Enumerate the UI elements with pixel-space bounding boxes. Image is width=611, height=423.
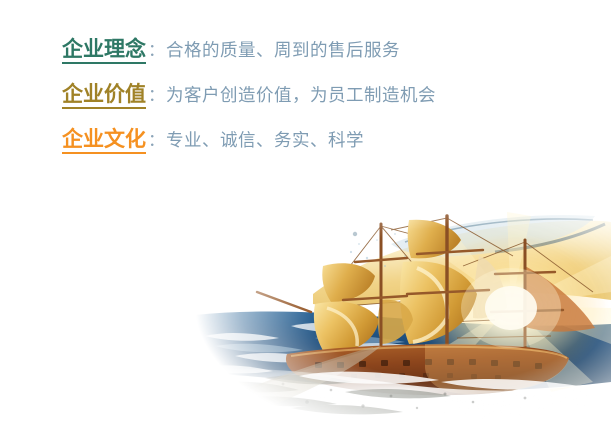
slogan-label-philosophy: 企业理念 [62,39,146,64]
slogan-row-value: 企业价值 ： 为客户创造价值，为员工制造机会 [62,81,562,126]
slogan-row-culture: 企业文化 ： 专业、诚信、务实、科学 [62,126,562,171]
slogan-text-philosophy: 合格的质量、周到的售后服务 [166,41,400,59]
slide-canvas: 企业理念 ： 合格的质量、周到的售后服务 企业价值 ： 为客户创造价值，为员工制… [0,0,611,423]
slogan-text-value: 为客户创造价值，为员工制造机会 [166,86,436,104]
slogan-label-culture: 企业文化 [62,129,146,154]
sailing-ship-illustration [195,196,611,423]
slogan-separator-value: ： [146,81,166,106]
slogan-separator-culture: ： [146,126,166,151]
slogan-row-philosophy: 企业理念 ： 合格的质量、周到的售后服务 [62,36,562,81]
floating-dot [353,232,357,236]
bowsprit [257,292,311,312]
sun-halo [461,268,561,348]
slogan-label-value: 企业价值 [62,84,146,109]
slogan-text-culture: 专业、诚信、务实、科学 [166,131,364,149]
company-slogan-block: 企业理念 ： 合格的质量、周到的售后服务 企业价值 ： 为客户创造价值，为员工制… [62,36,562,171]
slogan-separator-philosophy: ： [146,36,166,61]
